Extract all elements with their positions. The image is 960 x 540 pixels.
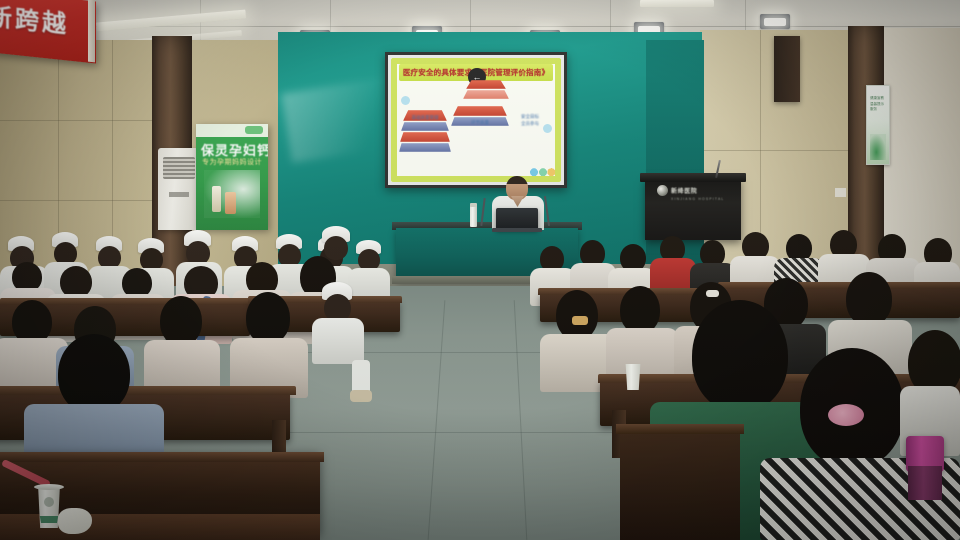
slide-footer-logo-icon bbox=[525, 165, 555, 177]
bench-row-top bbox=[0, 386, 296, 395]
napkin bbox=[58, 508, 92, 534]
laptop-screen bbox=[496, 208, 538, 230]
banner-pole bbox=[88, 0, 95, 62]
standee-logo-icon bbox=[245, 126, 263, 134]
paper-cup-logo-icon bbox=[44, 497, 54, 507]
podium-top-surface bbox=[640, 173, 746, 182]
poster-artwork bbox=[870, 134, 886, 160]
slide-decor-dot bbox=[401, 96, 410, 105]
projection-screen: 医疗安全的具体要求《医院管理评价指南》 ← 基础质量管理 环节质量 安全目标 全… bbox=[385, 52, 567, 188]
slide-shape-blue bbox=[401, 122, 449, 131]
slide-shape-blue bbox=[399, 143, 451, 152]
fluorescent-tube-icon bbox=[640, 0, 714, 7]
banner-text: 新跨越 bbox=[0, 0, 69, 40]
slide-shape-red bbox=[466, 80, 506, 89]
standee-subtitle: 专为孕期妈妈设计 bbox=[202, 157, 262, 167]
paper-cup-rim bbox=[34, 484, 64, 490]
lectern-podium: 新绛医院 XINJIANG HOSPITAL bbox=[645, 178, 741, 240]
slide-block-label: 环节质量 bbox=[453, 120, 507, 127]
slide-shape-pink bbox=[463, 90, 509, 99]
podium-hospital-subtitle: XINJIANG HOSPITAL bbox=[671, 197, 725, 201]
wall-speaker-icon bbox=[774, 36, 800, 102]
pink-thermos-body bbox=[908, 466, 942, 500]
hospital-emblem-icon bbox=[657, 185, 668, 196]
standee-product-bottle bbox=[212, 186, 221, 212]
laptop-base bbox=[492, 228, 542, 232]
wall-panel-seam bbox=[0, 200, 160, 201]
standee-product-box bbox=[225, 192, 236, 214]
nurse-shoe bbox=[350, 390, 372, 402]
foreground-bench-right bbox=[620, 430, 740, 540]
wall-outlet-plate bbox=[835, 188, 846, 197]
air-conditioner-unit bbox=[158, 148, 200, 230]
presentation-slide: 医疗安全的具体要求《医院管理评价指南》 ← 基础质量管理 环节质量 安全目标 全… bbox=[391, 58, 561, 182]
slide-shape-red bbox=[453, 106, 507, 116]
slide-block-label: 基础质量管理 bbox=[403, 115, 447, 122]
wall-panel-seam bbox=[0, 120, 160, 121]
hair-accessory bbox=[828, 404, 864, 426]
standee-header bbox=[196, 124, 268, 137]
red-banner: 新跨越 bbox=[0, 0, 96, 63]
slide-note-text: 安全目标 全员参与 bbox=[509, 114, 551, 128]
wall-poster-right: 健康宣教 温馨提示 服务 bbox=[866, 85, 890, 165]
water-bottle bbox=[470, 205, 477, 227]
bench-row-top bbox=[718, 282, 960, 289]
slide-shape-red bbox=[400, 132, 450, 142]
ac-grill-icon bbox=[163, 157, 195, 179]
ac-badge bbox=[169, 192, 189, 197]
podium-nameplate: 新绛医院 bbox=[657, 184, 729, 197]
podium-hospital-name: 新绛医院 bbox=[671, 186, 697, 195]
foreground-bench-right-top bbox=[616, 424, 744, 434]
paper-cup-band bbox=[39, 516, 59, 523]
foreground-desk-top bbox=[0, 452, 324, 462]
ceiling-spotlight-icon bbox=[760, 14, 790, 29]
lecture-hall-photo: 健康宣教 温馨提示 服务 新跨越 保灵孕妇钙 专为孕期妈妈设计 医疗安全的具体要 bbox=[0, 0, 960, 540]
nurse-trousers bbox=[352, 360, 370, 394]
water-bottle-cap bbox=[470, 203, 477, 207]
green-advertising-standee: 保灵孕妇钙 专为孕期妈妈设计 bbox=[196, 124, 268, 230]
poster-text: 健康宣教 温馨提示 服务 bbox=[870, 96, 884, 113]
